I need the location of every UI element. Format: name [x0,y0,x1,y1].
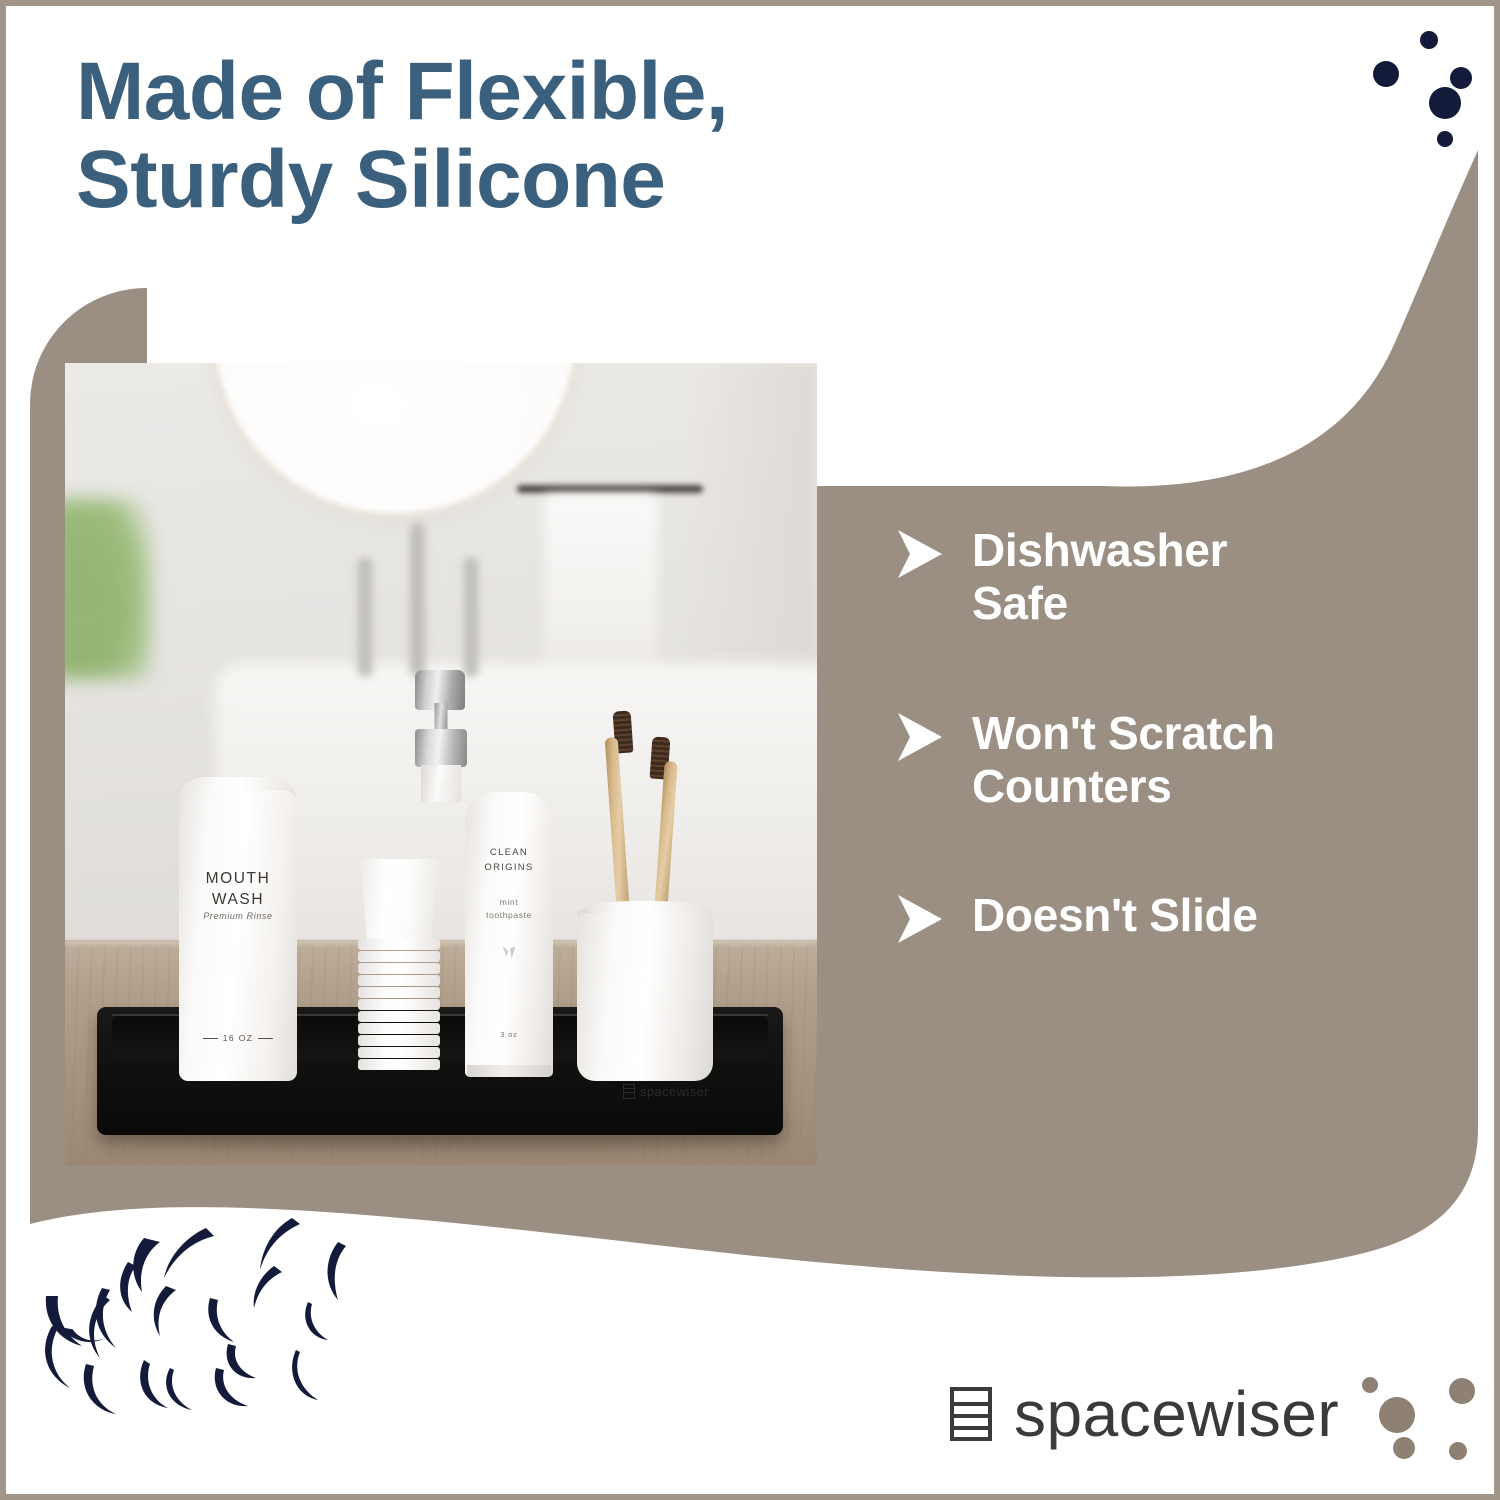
benefit-label: Won't Break [972,392,1234,445]
bottom-right-dots-decoration [1352,1352,1500,1500]
photo-toothpaste-logo-icon [500,944,518,962]
arrow-right-icon [896,396,944,448]
photo-toothpaste-crimp [467,1065,551,1077]
photo-toothpaste-kind-line2: toothpaste [486,910,532,920]
photo-mouthwash-subtitle: Premium Rinse [179,911,297,921]
photo-mouthwash-title: MOUTH WASH [179,869,297,911]
photo-bg-plant [65,499,151,679]
infographic-canvas: Made of Flexible, Sturdy Silicone [0,0,1500,1500]
arrow-right-icon [896,528,944,580]
photo-toothpaste-kind: mint toothpaste [465,896,553,922]
headline-line-2: Sturdy Silicone [76,136,896,224]
photo-stacked-cups [350,859,448,1077]
photo-mouthwash-size: 16 OZ [179,1033,297,1043]
arrow-right-icon [896,711,944,763]
photo-mouthwash-size-text: 16 OZ [223,1033,254,1043]
benefits-list: Won't Break Dishwasher Safe Won't Scratc… [896,392,1416,945]
benefit-label: Dishwasher Safe [972,524,1227,631]
brand-logo: spacewiser [950,1382,1339,1446]
photo-toothpaste-brand: CLEAN ORIGINS [465,846,553,875]
benefit-label: Doesn't Slide [972,889,1258,942]
top-right-dots-decoration [1352,22,1500,182]
photo-bg-faucet-left [357,558,373,676]
ladder-shelf-icon [950,1387,992,1441]
photo-tray-logo-text: spacewiser [640,1084,709,1099]
benefit-item: Won't Break [896,392,1416,448]
headline-line-1: Made of Flexible, [76,48,896,136]
photo-toothpaste-kind-line1: mint [500,897,518,907]
photo-toothpaste-tube: CLEAN ORIGINS mint toothpaste 3 oz [465,792,553,1077]
photo-bg-towel-rail [517,485,703,493]
photo-bg-faucet-center [409,523,426,675]
photo-mouthwash-title-line2: WASH [212,891,264,908]
photo-mouthwash-title-line1: MOUTH [206,870,271,887]
ladder-shelf-icon [623,1084,635,1099]
photo-cup-top [357,859,441,943]
photo-toothpaste-cap [421,780,461,802]
photo-mouthwash-bottle: MOUTH WASH Premium Rinse 16 OZ [179,791,297,1081]
photo-toothbrush-holder [577,913,713,1081]
benefit-label: Won't Scratch Counters [972,707,1275,814]
photo-pump-collar [415,729,467,767]
benefit-item: Dishwasher Safe [896,524,1416,631]
photo-bg-faucet-right [463,558,479,676]
photo-toothpaste-brand-line2: ORIGINS [484,862,533,873]
bottom-left-arcs-decoration [38,1218,378,1448]
benefit-item: Doesn't Slide [896,889,1416,945]
product-photo: spacewiser MOUTH WASH Premium Rinse 16 O… [65,363,817,1165]
arrow-right-icon [896,893,944,945]
photo-toothpaste-size: 3 oz [465,1030,553,1039]
photo-bg-towel [545,495,657,691]
photo-tray-embossed-logo: spacewiser [623,1084,709,1099]
photo-toothpaste-brand-line1: CLEAN [490,847,528,858]
page-title: Made of Flexible, Sturdy Silicone [76,48,896,223]
benefit-item: Won't Scratch Counters [896,707,1416,814]
brand-name: spacewiser [1014,1382,1339,1446]
